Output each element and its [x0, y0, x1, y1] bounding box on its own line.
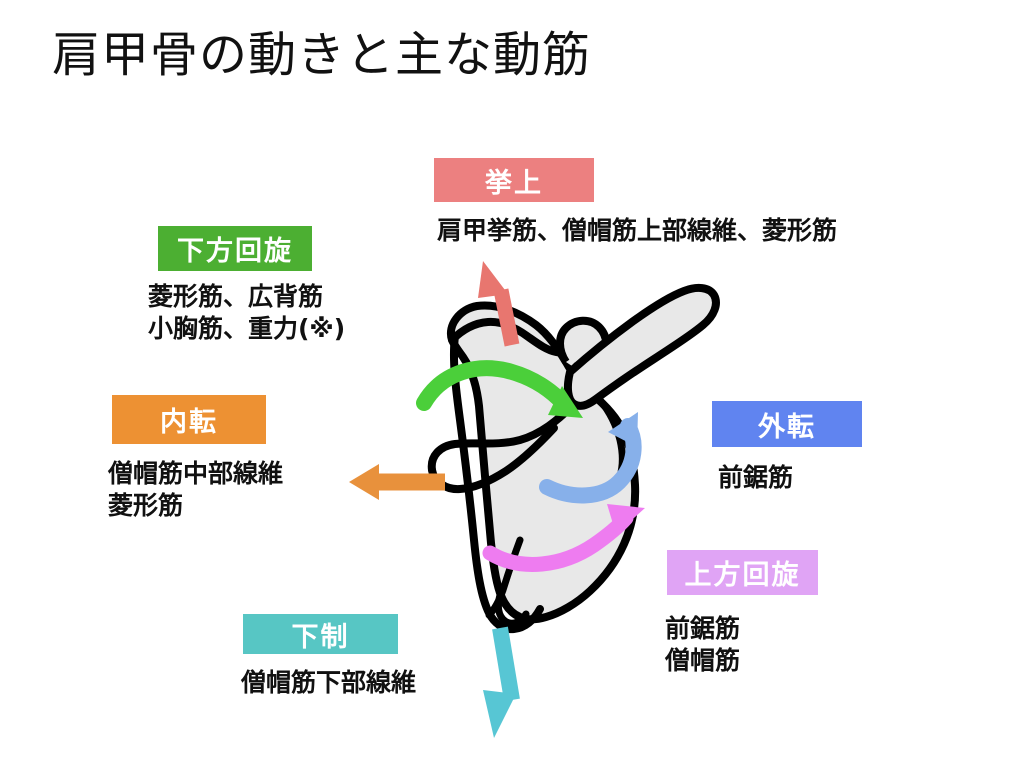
muscle-item: 僧帽筋: [665, 645, 740, 677]
chip-text-elevation: 挙上: [485, 161, 543, 200]
label-chip-adduction: 内転: [112, 395, 266, 444]
arrow-upward-rotation: [490, 504, 645, 564]
muscle-item: 小胸筋、重力(※): [148, 313, 345, 345]
chip-text-depression: 下制: [292, 615, 350, 654]
label-chip-upward-rotation: 上方回旋: [667, 550, 818, 595]
muscle-item: 前鋸筋: [718, 462, 793, 494]
muscle-item: 菱形筋: [108, 490, 283, 522]
label-chip-abduction: 外転: [712, 401, 862, 447]
label-chip-depression: 下制: [243, 614, 398, 654]
label-chip-downward-rotation: 下方回旋: [158, 226, 312, 271]
slide-canvas: 肩甲骨の動きと主な動筋: [0, 0, 1024, 768]
chip-text-upward-rotation: 上方回旋: [685, 553, 801, 592]
muscle-item: 前鋸筋: [665, 613, 740, 645]
muscle-list-adduction: 僧帽筋中部線維 菱形筋: [108, 458, 283, 522]
label-chip-elevation: 挙上: [434, 158, 594, 202]
muscle-item: 僧帽筋下部線維: [241, 667, 416, 699]
chip-text-abduction: 外転: [758, 405, 816, 444]
chip-text-downward-rotation: 下方回旋: [177, 229, 293, 268]
muscle-list-upward-rotation: 前鋸筋 僧帽筋: [665, 613, 740, 677]
muscle-item: 僧帽筋中部線維: [108, 458, 283, 490]
arrow-elevation: [478, 261, 512, 345]
muscle-list-downward-rotation: 菱形筋、広背筋 小胸筋、重力(※): [148, 281, 345, 345]
scapula-diagram: [0, 0, 1024, 768]
arrow-depression: [483, 628, 516, 738]
muscle-list-elevation: 肩甲挙筋、僧帽筋上部線維、菱形筋: [437, 215, 837, 247]
muscle-list-depression: 僧帽筋下部線維: [241, 667, 416, 699]
muscle-item: 肩甲挙筋、僧帽筋上部線維、菱形筋: [437, 215, 837, 247]
arrow-abduction: [547, 412, 638, 495]
arrow-adduction: [349, 464, 445, 500]
arrow-downward-rotation: [424, 368, 583, 418]
page-title: 肩甲骨の動きと主な動筋: [52, 28, 591, 83]
muscle-list-abduction: 前鋸筋: [718, 462, 793, 494]
chip-text-adduction: 内転: [160, 400, 218, 439]
muscle-item: 菱形筋、広背筋: [148, 281, 345, 313]
